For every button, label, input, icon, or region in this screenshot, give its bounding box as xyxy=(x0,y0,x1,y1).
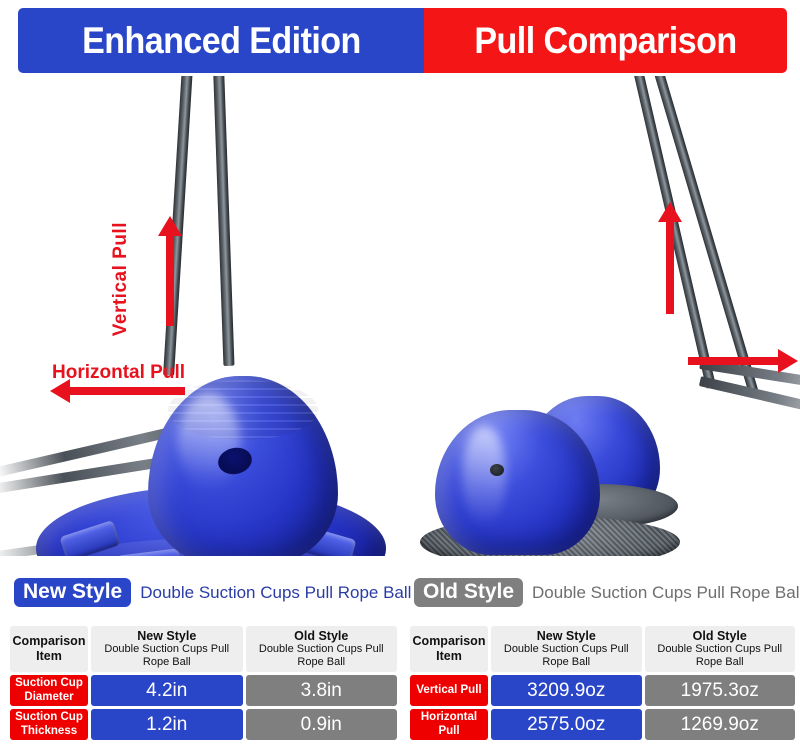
row-old-value: 0.9in xyxy=(246,709,398,740)
row-label-cell: Suction Cup Diameter xyxy=(10,675,88,706)
row-new-value: 4.2in xyxy=(91,675,243,706)
new-style-badge: New Style xyxy=(14,578,131,607)
banner-left-text: Enhanced Edition xyxy=(82,20,361,62)
dimension-comparison-table: Comparison Item New Style Double Suction… xyxy=(10,626,397,740)
row-new-value: 3209.9oz xyxy=(491,675,642,706)
vertical-pull-label-left: Vertical Pull xyxy=(110,222,132,336)
table-row: Suction Cup Diameter 4.2in 3.8in xyxy=(10,675,397,706)
vertical-pull-arrow-right xyxy=(658,202,682,314)
header-cell-old: Old Style Double Suction Cups Pull Rope … xyxy=(246,626,398,672)
row-label-line1: Suction Cup xyxy=(15,711,83,725)
old-style-label-row: Old Style Double Suction Cups Pull Rope … xyxy=(414,578,800,607)
header-old-line2: Double Suction Cups Pull Rope Ball xyxy=(249,643,395,669)
row-old-value: 1269.9oz xyxy=(645,709,796,740)
header-item-line2: Item xyxy=(36,649,62,664)
row-old-value: 3.8in xyxy=(246,675,398,706)
table-row: Vertical Pull 3209.9oz 1975.3oz xyxy=(410,675,795,706)
header-new-line2: Double Suction Cups Pull Rope Ball xyxy=(94,643,240,669)
header-new-line1: New Style xyxy=(537,629,596,644)
row-label-line2: Diameter xyxy=(24,691,73,705)
new-style-product-photo: Vertical Pull Horizontal Pull xyxy=(0,76,400,556)
bell-side-nub xyxy=(490,464,504,476)
row-label-line2: Thickness xyxy=(21,725,77,739)
header-item-line1: Comparison xyxy=(13,634,86,649)
row-label-cell: Vertical Pull xyxy=(410,675,488,706)
header-cell-item: Comparison Item xyxy=(10,626,88,672)
row-label-cell: Horizontal Pull xyxy=(410,709,488,740)
header-cell-old: Old Style Double Suction Cups Pull Rope … xyxy=(645,626,796,672)
header-cell-new: New Style Double Suction Cups Pull Rope … xyxy=(491,626,642,672)
old-style-product-photo: Vertical Pull Horizontal Pull xyxy=(400,76,800,556)
header-old-line1: Old Style xyxy=(294,629,348,644)
header-new-line2: Double Suction Cups Pull Rope Ball xyxy=(494,643,639,669)
header-cell-item: Comparison Item xyxy=(410,626,488,672)
banner-right-half: Pull Comparison xyxy=(424,8,787,73)
header-cell-new: New Style Double Suction Cups Pull Rope … xyxy=(91,626,243,672)
bell-highlight xyxy=(462,426,506,526)
row-label-cell: Suction Cup Thickness xyxy=(10,709,88,740)
old-style-description: Double Suction Cups Pull Rope Ball xyxy=(532,583,800,603)
header-item-line1: Comparison xyxy=(413,634,486,649)
header-new-line1: New Style xyxy=(137,629,196,644)
header-banner: Enhanced Edition Pull Comparison xyxy=(18,8,787,73)
row-label-line1: Suction Cup xyxy=(15,677,83,691)
row-label-line1: Vertical Pull xyxy=(416,684,481,698)
banner-left-half: Enhanced Edition xyxy=(18,8,424,73)
new-style-description: Double Suction Cups Pull Rope Ball xyxy=(140,583,411,603)
table-row: Suction Cup Thickness 1.2in 0.9in xyxy=(10,709,397,740)
table-header-row: Comparison Item New Style Double Suction… xyxy=(410,626,795,672)
header-old-line2: Double Suction Cups Pull Rope Ball xyxy=(648,643,793,669)
row-new-value: 2575.0oz xyxy=(491,709,642,740)
vertical-pull-arrow-left xyxy=(158,216,182,326)
dome-highlight xyxy=(178,394,240,490)
new-style-label-row: New Style Double Suction Cups Pull Rope … xyxy=(14,578,411,607)
header-old-line1: Old Style xyxy=(693,629,747,644)
table-row: Horizontal Pull 2575.0oz 1269.9oz xyxy=(410,709,795,740)
header-item-line2: Item xyxy=(436,649,462,664)
row-label-line1: Horizontal Pull xyxy=(410,711,488,738)
row-new-value: 1.2in xyxy=(91,709,243,740)
row-old-value: 1975.3oz xyxy=(645,675,796,706)
horizontal-pull-arrow-left xyxy=(50,379,185,403)
product-photo-stage: Vertical Pull Horizontal Pull Vertical P… xyxy=(0,76,800,556)
old-style-badge: Old Style xyxy=(414,578,523,607)
pull-force-comparison-table: Comparison Item New Style Double Suction… xyxy=(410,626,795,740)
table-header-row: Comparison Item New Style Double Suction… xyxy=(10,626,397,672)
banner-right-text: Pull Comparison xyxy=(474,20,736,62)
horizontal-pull-arrow-right xyxy=(688,349,798,373)
vertical-rope-right xyxy=(213,76,234,366)
suction-cup-bell-front xyxy=(435,410,600,555)
